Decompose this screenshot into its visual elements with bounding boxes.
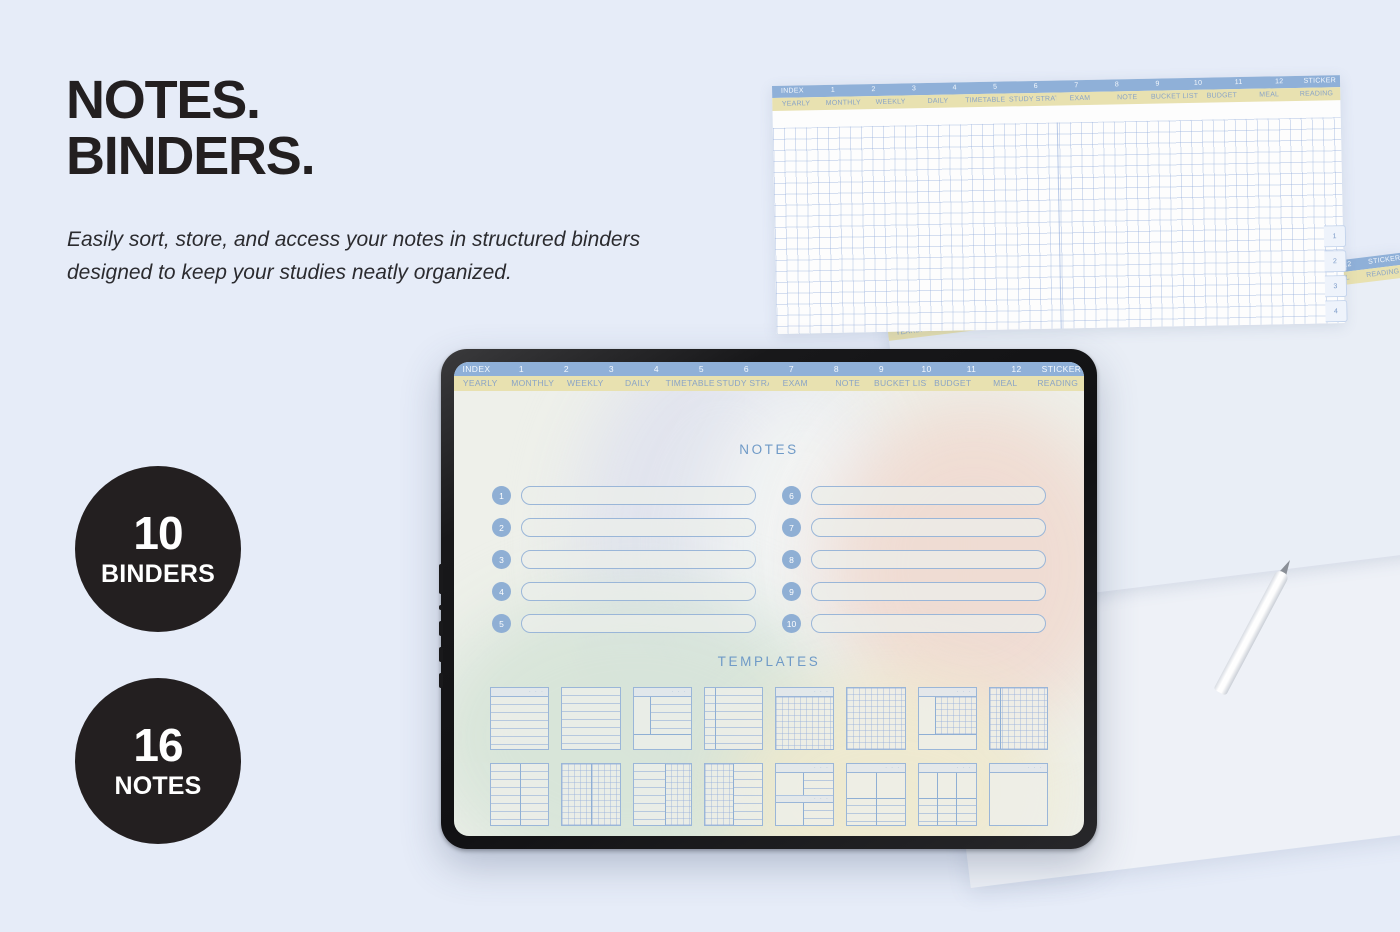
tab-index-4[interactable]: 4 (634, 362, 679, 376)
note-row: 8 (782, 550, 1046, 569)
template-lines (803, 773, 833, 795)
template-thumbnail-t9[interactable] (490, 763, 549, 826)
template-lines (919, 798, 976, 825)
tab-index-12[interactable]: 12 (994, 362, 1039, 376)
tab-index-7[interactable]: 7 (1056, 80, 1097, 93)
tab-section-reading[interactable]: READING (1032, 376, 1085, 391)
tablet-screen: INDEX123456789101112STICKER YEARLYMONTHL… (454, 362, 1084, 836)
template-thumbnail-t13[interactable]: · · ·· · · (775, 763, 834, 826)
note-row: 1 (492, 486, 756, 505)
badge-binders-number: 10 (133, 510, 182, 556)
tab-row-index[interactable]: INDEX123456789101112STICKER (454, 362, 1084, 376)
note-row: 6 (782, 486, 1046, 505)
tab-section-study-strategy[interactable]: STUDY STRATEGY (1009, 93, 1057, 107)
tab-index-9[interactable]: 9 (1137, 78, 1178, 91)
template-thumbnail-t14[interactable]: · · · (846, 763, 905, 826)
template-margin-rule (715, 688, 716, 749)
template-grid (847, 688, 904, 749)
template-divider (937, 773, 938, 825)
template-thumbnail-t8[interactable] (989, 687, 1048, 750)
tab-index-5[interactable]: 5 (679, 362, 724, 376)
note-number-5: 5 (492, 614, 511, 633)
note-title-input-10[interactable] (811, 614, 1046, 633)
tab-index-12[interactable]: 12 (1259, 76, 1300, 89)
tab-section-budget[interactable]: BUDGET (927, 376, 980, 391)
templates-section-title: TEMPLATES (454, 654, 1084, 669)
tab-index-2[interactable]: 2 (544, 362, 589, 376)
template-thumbnail-t1[interactable]: · · · (490, 687, 549, 750)
tab-section-daily[interactable]: DAILY (914, 94, 962, 108)
binder-side-tab-1[interactable]: 1 (1324, 225, 1346, 247)
template-divider (665, 764, 666, 825)
template-lines (705, 688, 762, 749)
note-row: 10 (782, 614, 1046, 633)
tab-section-meal[interactable]: MEAL (979, 376, 1032, 391)
screen-tabbar[interactable]: INDEX123456789101112STICKER YEARLYMONTHL… (454, 362, 1084, 391)
note-number-10: 10 (782, 614, 801, 633)
binder-side-tab-3[interactable]: 3 (1325, 275, 1347, 297)
template-header-dots: · · · (671, 690, 686, 695)
tab-section-study-strategy[interactable]: STUDY STRATEGY (717, 376, 770, 391)
tab-section-daily[interactable]: DAILY (612, 376, 665, 391)
binder-side-tab-4[interactable]: 4 (1325, 300, 1347, 322)
note-number-3: 3 (492, 550, 511, 569)
note-number-4: 4 (492, 582, 511, 601)
notes-index-page: INDEX123456789101112STICKER YEARLYMONTHL… (454, 362, 1084, 836)
tab-index-6[interactable]: 6 (724, 362, 769, 376)
tablet-side-buttons[interactable] (439, 564, 443, 699)
template-header-dots: · · · (529, 690, 544, 695)
tab-index-index[interactable]: INDEX (454, 362, 499, 376)
notes-section-title: NOTES (454, 442, 1084, 457)
tab-section-monthly[interactable]: MONTHLY (820, 96, 868, 110)
note-title-input-1[interactable] (521, 486, 756, 505)
binder-side-tab-2[interactable]: 2 (1324, 250, 1346, 272)
template-header-dots: · · · (885, 766, 900, 771)
template-divider (876, 773, 877, 825)
tab-section-weekly[interactable]: WEEKLY (867, 95, 915, 109)
tab-section-monthly[interactable]: MONTHLY (507, 376, 560, 391)
template-thumbnail-t4[interactable] (704, 687, 763, 750)
badge-binders: 10 BINDERS (75, 466, 241, 632)
tab-section-yearly[interactable]: YEARLY (772, 97, 820, 111)
template-subheader-dots: · · · (814, 797, 829, 802)
tab-index-11[interactable]: 11 (949, 362, 994, 376)
template-thumbnail-t10[interactable] (561, 763, 620, 826)
tab-index-3[interactable]: 3 (589, 362, 634, 376)
note-number-8: 8 (782, 550, 801, 569)
template-margin-rule (1000, 688, 1001, 749)
template-divider (919, 734, 976, 735)
template-header-dots: · · · (956, 690, 971, 695)
template-thumbnail-t7[interactable]: · · · (918, 687, 977, 750)
note-number-1: 1 (492, 486, 511, 505)
template-thumbnail-t2[interactable] (561, 687, 620, 750)
tab-index-10[interactable]: 10 (1178, 77, 1219, 90)
template-header-dots: · · · (956, 766, 971, 771)
template-header-dots: · · · (814, 766, 829, 771)
tab-index-11[interactable]: 11 (1218, 77, 1259, 90)
template-header-dots: · · · (1028, 766, 1043, 771)
headline-line-2: BINDERS. (66, 128, 314, 184)
note-row: 5 (492, 614, 756, 633)
tab-index-1[interactable]: 1 (813, 84, 854, 97)
template-lines (733, 764, 762, 825)
tab-section-bucket-list[interactable]: BUCKET LIST (874, 376, 927, 391)
template-thumbnail-t12[interactable] (704, 763, 763, 826)
tab-index-3[interactable]: 3 (894, 83, 935, 96)
tab-index-7[interactable]: 7 (769, 362, 814, 376)
tab-row-sections[interactable]: YEARLYMONTHLYWEEKLYDAILYTIMETABLESTUDY S… (454, 376, 1084, 391)
binder-sheet-grid-paper: INDEX123456789101112STICKER YEARLYMONTHL… (772, 75, 1345, 334)
tab-index-8[interactable]: 8 (1097, 79, 1138, 92)
note-title-input-4[interactable] (521, 582, 756, 601)
note-title-input-2[interactable] (521, 518, 756, 537)
badge-notes: 16 NOTES (75, 678, 241, 844)
note-title-input-6[interactable] (811, 486, 1046, 505)
template-grid (665, 764, 691, 825)
tab-section-yearly[interactable]: YEARLY (454, 376, 507, 391)
tab-index-9[interactable]: 9 (859, 362, 904, 376)
tab-index-2[interactable]: 2 (853, 84, 894, 97)
template-grid (705, 764, 734, 825)
template-divider (634, 734, 691, 735)
template-thumbnail-t5[interactable]: · · · (775, 687, 834, 750)
note-number-7: 7 (782, 518, 801, 537)
note-row: 7 (782, 518, 1046, 537)
tab-section-budget[interactable]: BUDGET (1198, 89, 1246, 103)
template-lines (803, 803, 833, 825)
headline-line-1: NOTES. (66, 72, 314, 128)
template-divider (919, 798, 976, 799)
badge-binders-label: BINDERS (101, 559, 215, 589)
note-title-input-5[interactable] (521, 614, 756, 633)
template-lines (634, 764, 666, 825)
note-number-9: 9 (782, 582, 801, 601)
template-lines (650, 697, 691, 735)
tab-index-6[interactable]: 6 (1015, 81, 1056, 94)
tab-index-5[interactable]: 5 (975, 81, 1016, 94)
tab-section-exam[interactable]: EXAM (1056, 92, 1104, 106)
note-title-input-3[interactable] (521, 550, 756, 569)
note-title-input-7[interactable] (811, 518, 1046, 537)
template-divider (733, 764, 734, 825)
tab-section-timetable[interactable]: TIMETABLE (962, 93, 1010, 107)
template-lines (562, 688, 619, 749)
page-subheadline: Easily sort, store, and access your note… (67, 224, 717, 290)
note-row: 2 (492, 518, 756, 537)
template-divider (803, 773, 804, 795)
tab-section-bucket-list[interactable]: BUCKET LIST (1151, 90, 1199, 104)
tab-section-weekly[interactable]: WEEKLY (559, 376, 612, 391)
note-number-6: 6 (782, 486, 801, 505)
note-row: 9 (782, 582, 1046, 601)
template-grid (935, 697, 976, 735)
tab-index-sticker[interactable]: STICKER (1039, 362, 1084, 376)
template-thumbnail-t16[interactable]: · · · (989, 763, 1048, 826)
tab-section-note[interactable]: NOTE (822, 376, 875, 391)
tab-index-1[interactable]: 1 (499, 362, 544, 376)
template-divider (935, 697, 936, 735)
template-thumbnail-t3[interactable]: · · · (633, 687, 692, 750)
tab-section-timetable[interactable]: TIMETABLE (664, 376, 717, 391)
note-row: 4 (492, 582, 756, 601)
tab-index-sticker[interactable]: STICKER (1299, 75, 1340, 88)
template-divider (650, 697, 651, 735)
tab-index-10[interactable]: 10 (904, 362, 949, 376)
template-thumbnail-t15[interactable]: · · · (918, 763, 977, 826)
note-row: 3 (492, 550, 756, 569)
template-grid (990, 688, 1047, 749)
tab-section-exam[interactable]: EXAM (769, 376, 822, 391)
template-grid (776, 697, 833, 749)
tab-section-reading[interactable]: READING (1293, 87, 1341, 101)
badge-notes-number: 16 (133, 722, 182, 768)
tab-section-meal[interactable]: MEAL (1245, 88, 1293, 102)
note-title-input-9[interactable] (811, 582, 1046, 601)
binder-side-tabs: 1234 (1324, 225, 1348, 325)
template-divider (956, 773, 957, 825)
template-divider (803, 803, 804, 825)
templates-gallery: · · ·· · ·· · ·· · ·· · ·· · ·· · ·· · ·… (490, 687, 1048, 826)
tablet-device: INDEX123456789101112STICKER YEARLYMONTHL… (441, 349, 1097, 849)
note-number-2: 2 (492, 518, 511, 537)
binder-top-tabbar: INDEX123456789101112STICKER YEARLYMONTHL… (772, 75, 1340, 111)
tab-section-note[interactable]: NOTE (1103, 91, 1151, 105)
notes-list: 16273849510 (492, 486, 1046, 633)
page-headline: NOTES. BINDERS. (66, 72, 314, 184)
template-thumbnail-t6[interactable] (846, 687, 905, 750)
template-divider (520, 764, 521, 825)
template-header-dots: · · · (814, 690, 829, 695)
badge-notes-label: NOTES (114, 771, 201, 801)
template-divider (591, 764, 592, 825)
template-divider (847, 798, 904, 799)
tab-index-4[interactable]: 4 (934, 82, 975, 95)
tab-index-8[interactable]: 8 (814, 362, 859, 376)
tab-index-index[interactable]: INDEX (772, 85, 813, 98)
template-thumbnail-t11[interactable] (633, 763, 692, 826)
template-lines (491, 697, 548, 749)
note-title-input-8[interactable] (811, 550, 1046, 569)
